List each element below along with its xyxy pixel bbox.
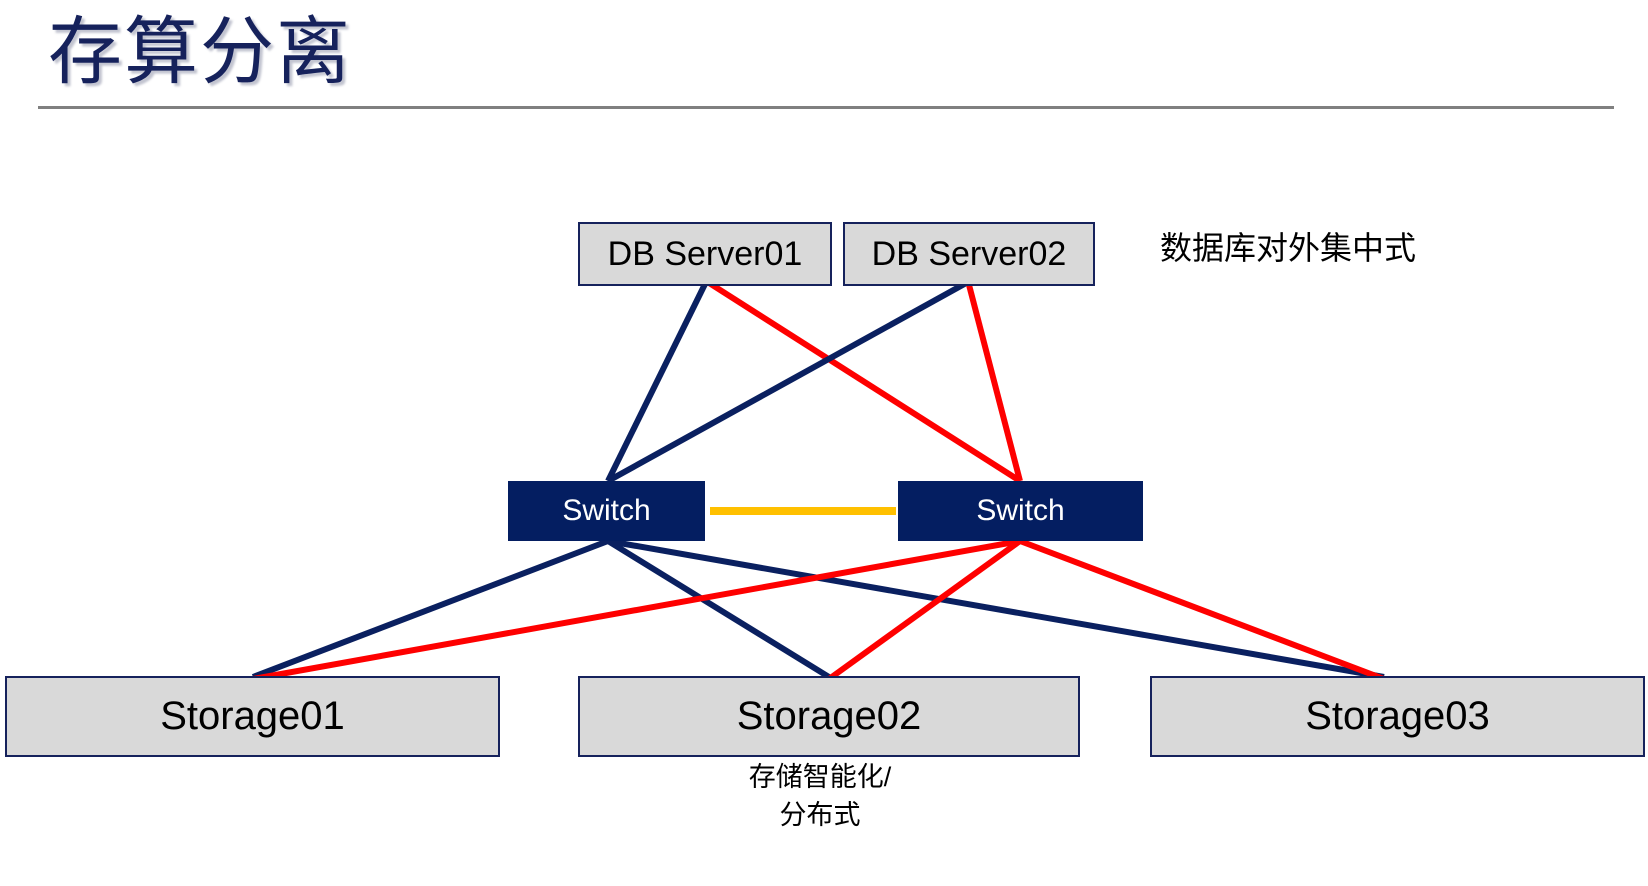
- node-label: Switch: [562, 494, 650, 528]
- link-db01-switch01: [608, 282, 706, 481]
- link-switch01-storage01: [253, 541, 608, 677]
- link-db02-switch02: [968, 281, 1020, 481]
- link-db01-switch02: [706, 281, 1020, 481]
- annotation-storage-line-1: 存储智能化/: [620, 758, 1020, 796]
- annotation-storage-line-2: 分布式: [620, 796, 1020, 834]
- link-switch01-storage03: [608, 541, 1384, 677]
- annotation-storage-tier: 存储智能化/ 分布式: [620, 758, 1020, 834]
- node-label: Storage02: [737, 694, 922, 739]
- node-label: DB Server01: [608, 235, 803, 274]
- node-label: Storage01: [160, 694, 345, 739]
- node-db-server-02[interactable]: DB Server02: [843, 222, 1095, 286]
- node-db-server-01[interactable]: DB Server01: [578, 222, 832, 286]
- slide-canvas: 存算分离 DB Server01 DB Server02 数据库对外集中式 Sw…: [0, 0, 1648, 886]
- title-divider: [38, 106, 1614, 109]
- node-storage-03[interactable]: Storage03: [1150, 676, 1645, 757]
- annotation-database-tier: 数据库对外集中式: [1160, 226, 1416, 270]
- node-label: Storage03: [1305, 694, 1490, 739]
- node-storage-02[interactable]: Storage02: [578, 676, 1080, 757]
- link-switch02-storage01: [253, 541, 1020, 679]
- link-switch02-storage02: [829, 541, 1020, 679]
- node-label: Switch: [976, 494, 1064, 528]
- node-switch-02[interactable]: Switch: [898, 481, 1143, 541]
- link-switch02-storage03: [1020, 541, 1384, 679]
- node-switch-01[interactable]: Switch: [508, 481, 705, 541]
- page-title: 存算分离: [48, 6, 352, 98]
- link-db02-switch01: [608, 282, 968, 481]
- node-label: DB Server02: [872, 235, 1067, 274]
- link-switch01-storage02: [608, 541, 829, 677]
- node-storage-01[interactable]: Storage01: [5, 676, 500, 757]
